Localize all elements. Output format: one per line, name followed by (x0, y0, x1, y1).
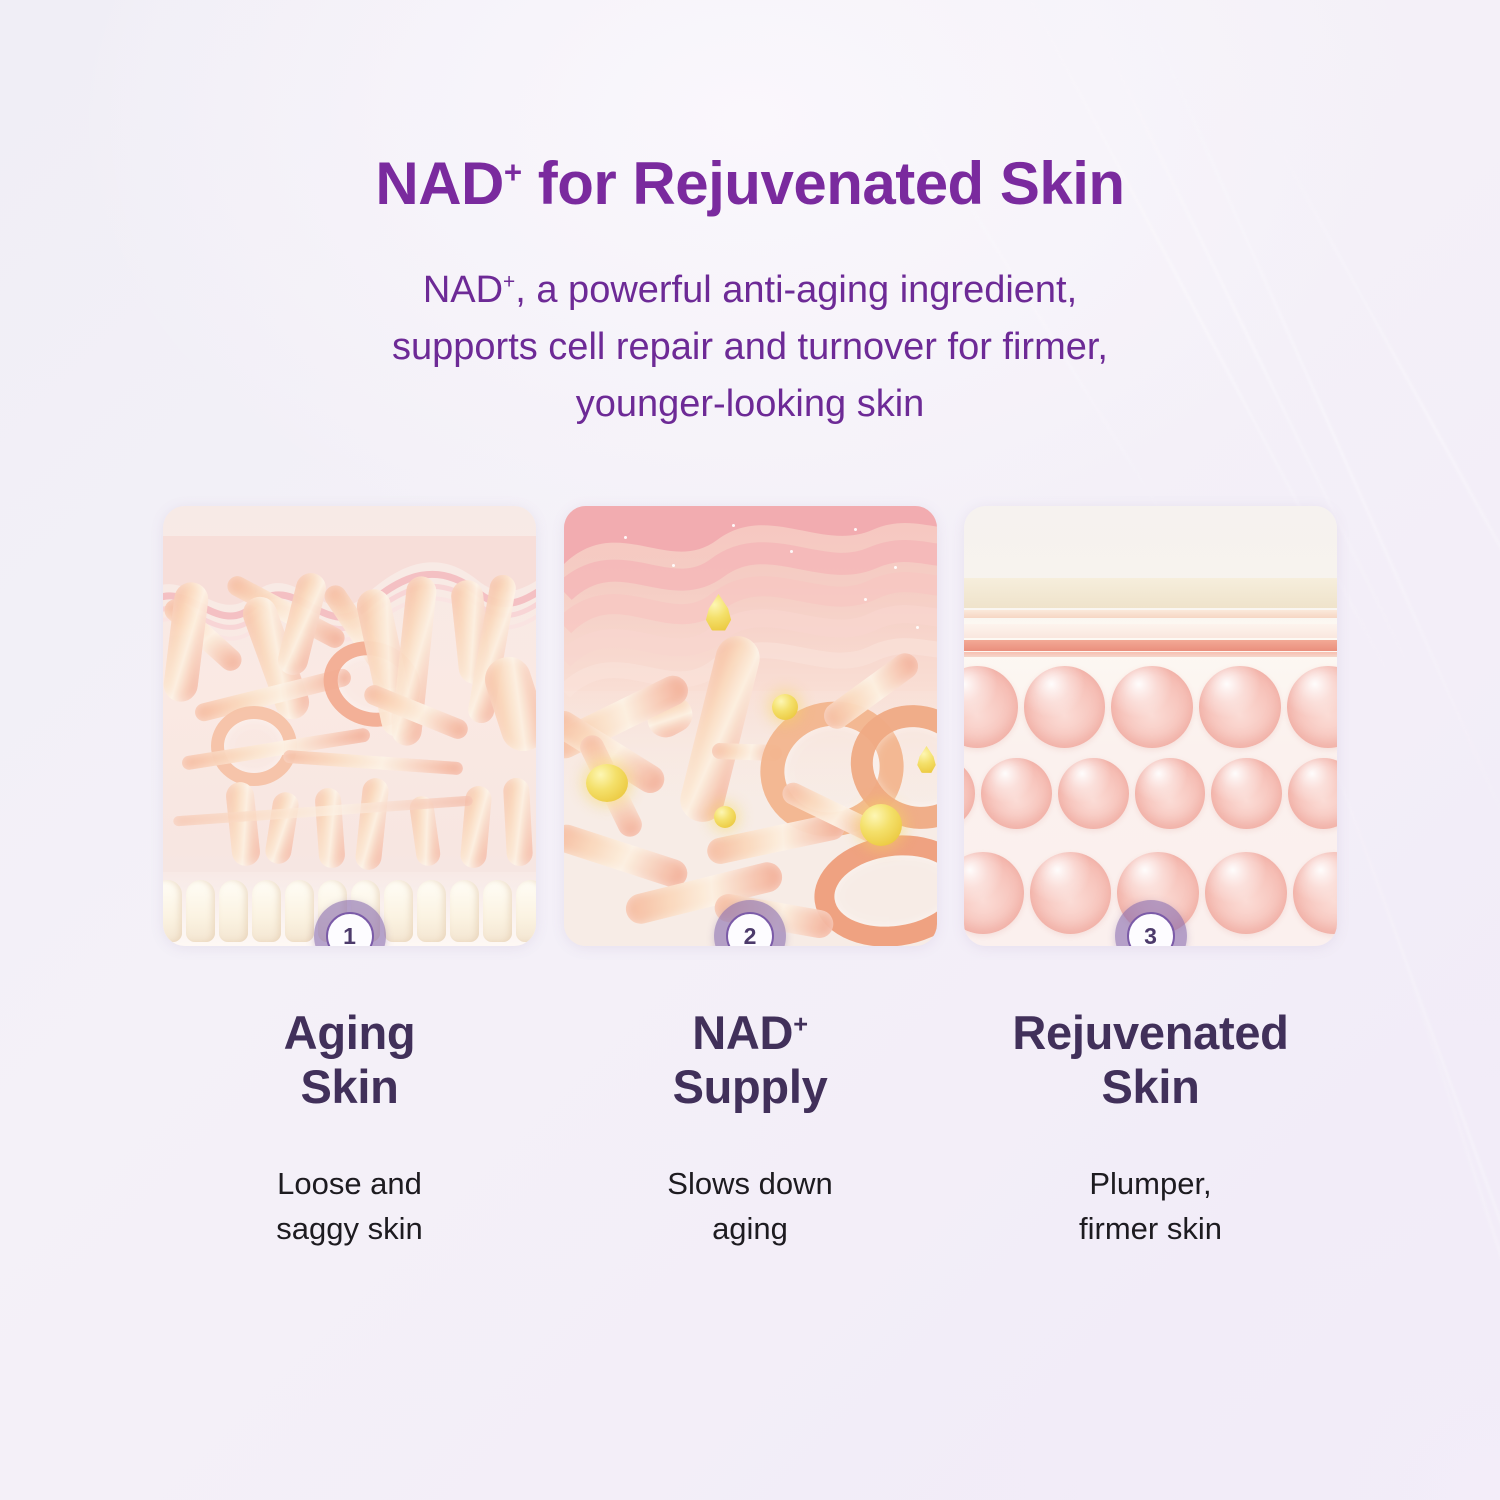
step-caption-1: Loose and saggy skin (163, 1162, 536, 1252)
page-title-rest: for Rejuvenated Skin (522, 150, 1125, 217)
step-heading-2-line1: NAD (692, 1006, 793, 1059)
skin-layer-stratum (964, 578, 1337, 608)
subtitle-line-1: NAD+, a powerful anti-aging ingredient, (0, 262, 1500, 319)
step-heading-2: NAD+ Supply (564, 1006, 937, 1114)
step-caption-2-line2: aging (564, 1207, 937, 1252)
step-heading-3-line1: Rejuvenated (1012, 1006, 1288, 1059)
step-caption-3-line1: Plumper, (964, 1162, 1337, 1207)
subtitle-superscript: + (503, 270, 515, 293)
skin-layer-3 (964, 624, 1337, 638)
step-column-1: Aging Skin Loose and saggy skin (163, 1006, 536, 1252)
step-heading-1-line2: Skin (300, 1060, 398, 1113)
step-heading-3: Rejuvenated Skin (964, 1006, 1337, 1114)
step-heading-2-superscript: + (793, 1010, 808, 1038)
illustration-card-row: 1 (163, 506, 1337, 946)
illustration-card-aging-skin: 1 (163, 506, 536, 946)
subtitle-line-1-rest: , a powerful anti-aging ingredient, (515, 269, 1077, 311)
step-caption-1-line1: Loose and (163, 1162, 536, 1207)
step-caption-3: Plumper, firmer skin (964, 1162, 1337, 1252)
page-title-nad: NAD (375, 150, 504, 217)
nad-collagen-fiber-group (564, 506, 937, 946)
step-caption-2-line1: Slows down (564, 1162, 937, 1207)
step-heading-2-line2: Supply (673, 1060, 828, 1113)
page-title-superscript: + (504, 155, 522, 190)
skin-layer-5 (964, 652, 1337, 657)
step-heading-1-line1: Aging (284, 1006, 416, 1059)
nad-droplet-6 (860, 804, 902, 846)
infographic-canvas: NAD+ for Rejuvenated Skin NAD+, a powerf… (0, 0, 1500, 1500)
step-caption-3-line2: firmer skin (964, 1207, 1337, 1252)
step-label-row: Aging Skin Loose and saggy skin NAD+ Sup… (163, 1006, 1337, 1252)
step-column-2: NAD+ Supply Slows down aging (564, 1006, 937, 1252)
step-heading-1: Aging Skin (163, 1006, 536, 1114)
nad-droplet-3 (586, 764, 628, 802)
page-subtitle: NAD+, a powerful anti-aging ingredient, … (0, 262, 1500, 433)
page-title: NAD+ for Rejuvenated Skin (0, 152, 1500, 215)
step-column-3: Rejuvenated Skin Plumper, firmer skin (964, 1006, 1337, 1252)
step-heading-3-line2: Skin (1101, 1060, 1199, 1113)
step-number-3: 3 (1127, 912, 1175, 946)
subtitle-line-3: younger-looking skin (0, 376, 1500, 433)
subtitle-nad: NAD (423, 269, 503, 311)
skin-layer-4 (964, 640, 1337, 651)
skin-layer-2 (964, 610, 1337, 618)
nad-droplet-2 (772, 694, 798, 720)
illustration-card-nad-supply: 2 (564, 506, 937, 946)
step-caption-1-line2: saggy skin (163, 1207, 536, 1252)
step-number-1: 1 (326, 912, 374, 946)
subtitle-line-2: supports cell repair and turnover for fi… (0, 319, 1500, 376)
illustration-card-rejuvenated-skin: 3 (964, 506, 1337, 946)
step-caption-2: Slows down aging (564, 1162, 937, 1252)
nad-droplet-5 (714, 806, 736, 828)
step-number-2: 2 (726, 912, 774, 946)
